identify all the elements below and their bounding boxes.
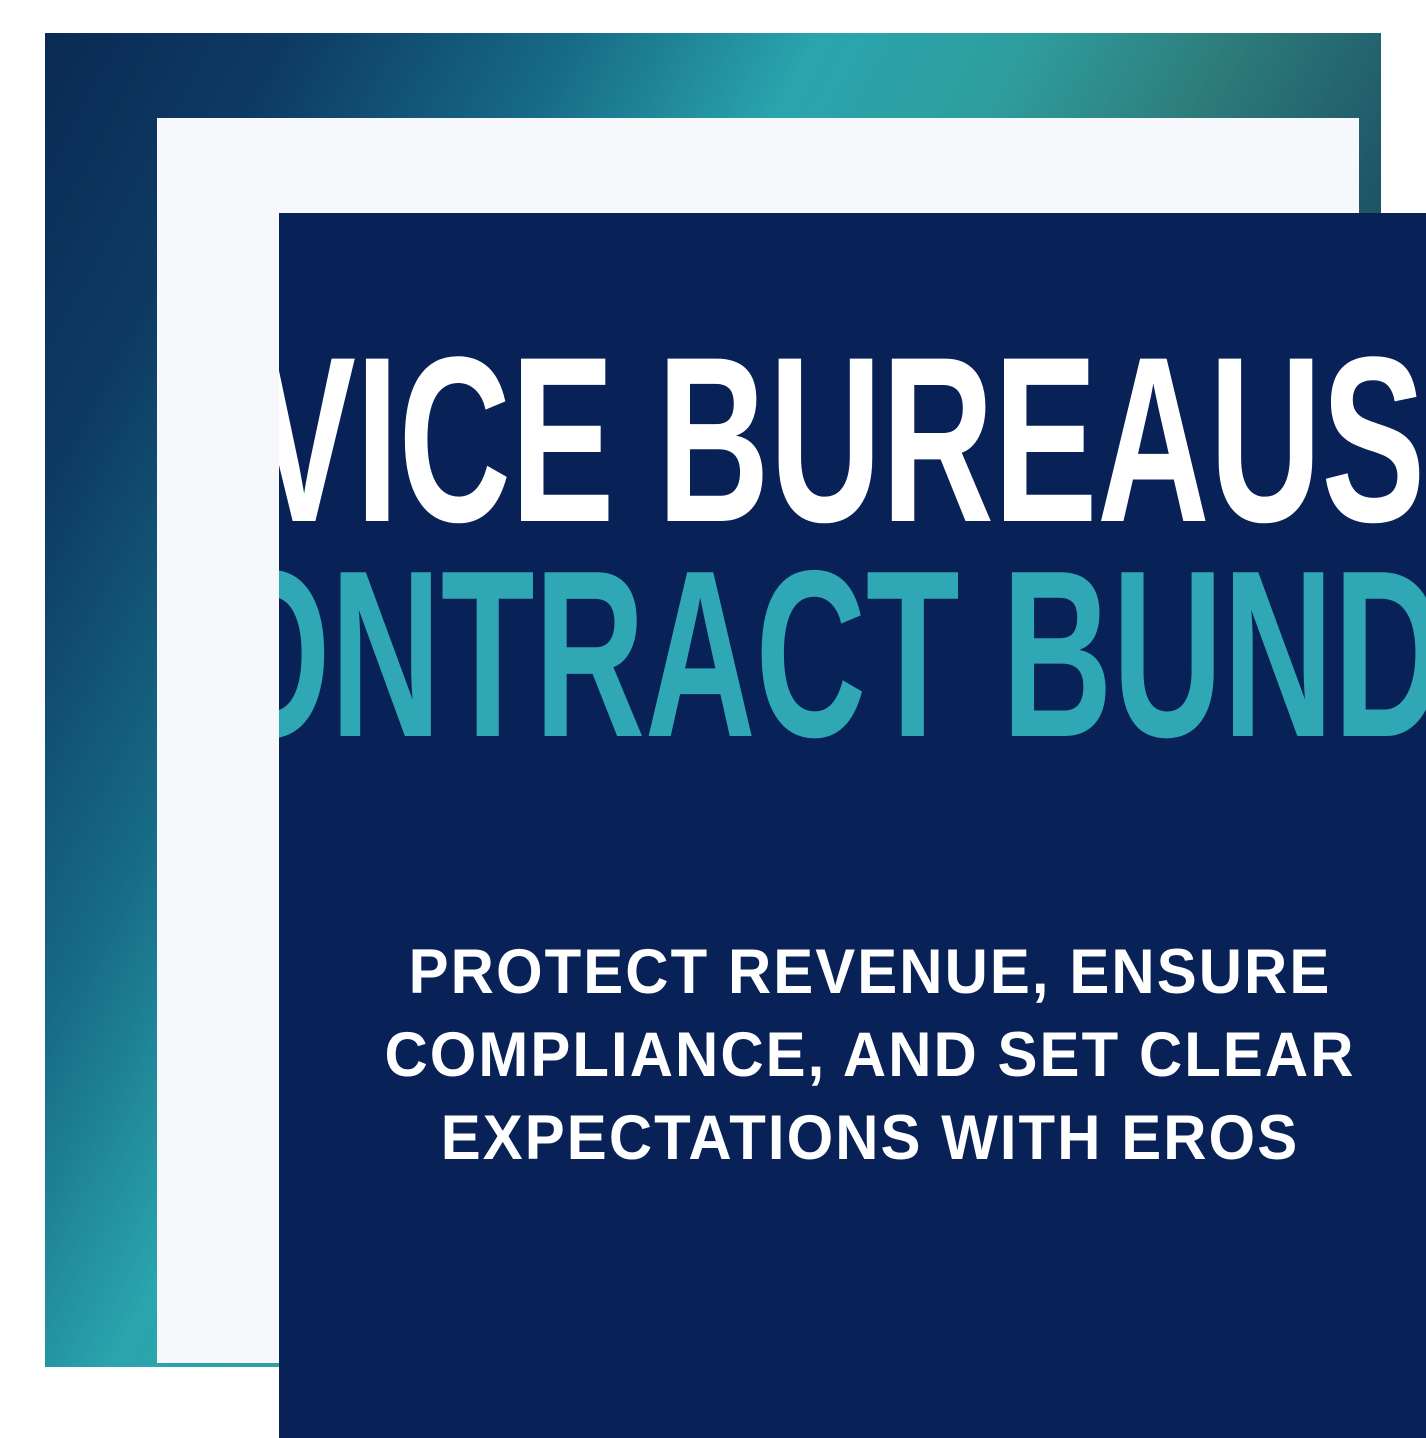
poster-canvas: SERVICE BUREAUS ERO CONTRACT BUNDLE PROT… <box>0 0 1426 1426</box>
navy-content-panel: SERVICE BUREAUS ERO CONTRACT BUNDLE PROT… <box>279 213 1426 1438</box>
subtitle-line-2: COMPLIANCE, AND SET CLEAR <box>367 1014 1374 1097</box>
subtitle-line-3: EXPECTATIONS WITH EROS <box>367 1097 1374 1180</box>
subtitle-block: PROTECT REVENUE, ENSURE COMPLIANCE, AND … <box>340 931 1400 1180</box>
headline-line-2: CONTRACT BUNDLE <box>279 553 1426 758</box>
white-inner-rule: SERVICE BUREAUS ERO CONTRACT BUNDLE PROT… <box>157 118 1359 1363</box>
headline-line-1: SERVICE BUREAUS ERO <box>279 339 1426 542</box>
gradient-border-frame: SERVICE BUREAUS ERO CONTRACT BUNDLE PROT… <box>45 33 1381 1367</box>
subtitle-line-1: PROTECT REVENUE, ENSURE <box>367 931 1374 1014</box>
